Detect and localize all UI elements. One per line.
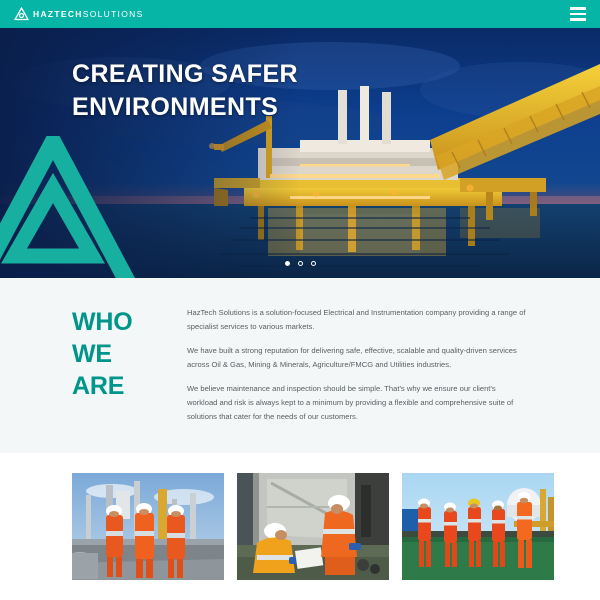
who-we-are-inner: WHO WE ARE HazTech Solutions is a soluti… <box>0 278 600 424</box>
top-navigation-bar: HAZTECHSOLUTIONS <box>0 0 600 28</box>
who-paragraph-1: HazTech Solutions is a solution-focused … <box>187 306 528 334</box>
who-heading-line-3: ARE <box>72 370 182 402</box>
gallery-image-1[interactable] <box>72 473 224 580</box>
who-we-are-heading: WHO WE ARE <box>72 306 182 424</box>
hero-carousel: CREATING SAFER ENVIRONMENTS <box>0 28 600 278</box>
hamburger-bar-2 <box>570 13 586 16</box>
hamburger-menu-icon[interactable] <box>570 7 586 21</box>
hero-title-line-2: ENVIRONMENTS <box>72 91 298 124</box>
carousel-dot-1[interactable] <box>285 261 290 266</box>
photo-gallery-row <box>72 473 554 580</box>
carousel-dot-2[interactable] <box>298 261 303 266</box>
who-we-are-body: HazTech Solutions is a solution-focused … <box>182 306 528 424</box>
who-heading-line-2: WE <box>72 338 182 370</box>
photo-gallery-section <box>0 453 600 600</box>
brand-name: HAZTECHSOLUTIONS <box>33 10 144 19</box>
who-paragraph-3: We believe maintenance and inspection sh… <box>187 382 528 424</box>
who-heading-line-1: WHO <box>72 306 182 338</box>
hamburger-bar-1 <box>570 7 586 10</box>
gallery-image-2[interactable] <box>237 473 389 580</box>
gallery-image-3[interactable] <box>402 473 554 580</box>
hamburger-bar-3 <box>570 18 586 21</box>
brand-name-bold: HAZTECH <box>33 9 83 19</box>
who-paragraph-2: We have built a strong reputation for de… <box>187 344 528 372</box>
who-we-are-section: WHO WE ARE HazTech Solutions is a soluti… <box>0 278 600 453</box>
hero-title-line-1: CREATING SAFER <box>72 58 298 91</box>
carousel-dot-3[interactable] <box>311 261 316 266</box>
triangle-logo-icon <box>14 7 29 21</box>
page-root: HAZTECHSOLUTIONS <box>0 0 600 600</box>
carousel-dots <box>0 261 600 266</box>
brand-logo[interactable]: HAZTECHSOLUTIONS <box>14 7 144 21</box>
brand-name-light: SOLUTIONS <box>83 9 144 19</box>
hero-title: CREATING SAFER ENVIRONMENTS <box>72 58 298 124</box>
